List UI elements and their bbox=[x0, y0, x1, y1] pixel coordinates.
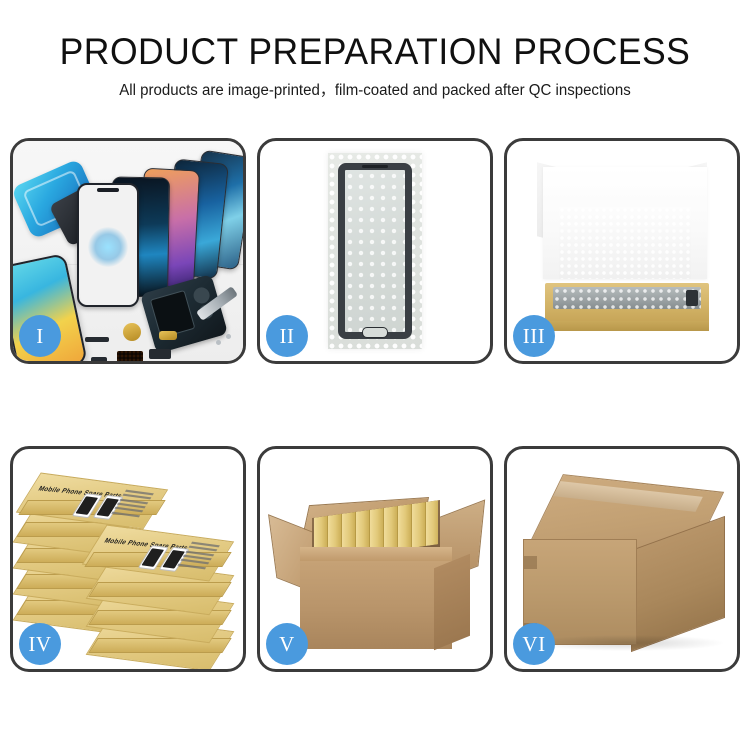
phone-fan-group bbox=[63, 153, 243, 293]
sim-tray-grid-part bbox=[117, 351, 143, 361]
step-badge-2: II bbox=[266, 315, 308, 357]
step-badge-6: VI bbox=[513, 623, 555, 665]
sealed-carton-group bbox=[523, 483, 725, 645]
page-subtitle: All products are image-printed，film-coat… bbox=[11, 80, 739, 102]
page-header: PRODUCT PREPARATION PROCESS All products… bbox=[0, 0, 750, 102]
step-badge-1: I bbox=[19, 315, 61, 357]
flex-cable-part bbox=[85, 337, 109, 342]
foam-padding bbox=[559, 207, 691, 279]
page-title: PRODUCT PREPARATION PROCESS bbox=[15, 30, 735, 74]
speaker-part bbox=[123, 323, 141, 341]
printed-box-front: Mobile Phone Spare Parts bbox=[89, 533, 225, 567]
home-button-cutout bbox=[362, 327, 388, 338]
process-step-grid: I II III bbox=[10, 138, 740, 672]
step-badge-5: V bbox=[266, 623, 308, 665]
carton-shadow bbox=[533, 635, 723, 651]
box-front bbox=[88, 582, 231, 597]
bubble-wrap-sheet bbox=[328, 153, 422, 349]
screen-glow bbox=[88, 227, 128, 267]
process-step-panel-2: II bbox=[257, 138, 493, 364]
carton-seam-top bbox=[524, 556, 537, 569]
process-step-panel-5: V bbox=[257, 446, 493, 672]
connector-part bbox=[159, 331, 177, 340]
earpiece-slot bbox=[362, 165, 388, 168]
button-part bbox=[91, 357, 107, 361]
process-step-panel-3: III bbox=[504, 138, 740, 364]
open-carton-group bbox=[274, 479, 478, 649]
screw-2 bbox=[226, 334, 231, 339]
process-step-panel-6: VI bbox=[504, 446, 740, 672]
carton-side bbox=[434, 554, 470, 651]
screw-1 bbox=[216, 340, 221, 345]
process-step-panel-4: Mobile Phone Spare Parts Mobile Phone Sp… bbox=[10, 446, 246, 672]
step-badge-4: IV bbox=[19, 623, 61, 665]
carton-rim bbox=[300, 547, 452, 561]
step-badge-3: III bbox=[513, 315, 555, 357]
phone-1-screen bbox=[77, 183, 139, 307]
screen-digitizer bbox=[338, 163, 412, 339]
packed-screen-part bbox=[553, 287, 701, 309]
process-step-panel-1: I bbox=[10, 138, 246, 364]
notch bbox=[97, 188, 119, 192]
carton-front bbox=[300, 561, 452, 649]
camera-module-part bbox=[149, 349, 171, 359]
printed-box-back: Mobile Phone Spare Parts bbox=[23, 481, 159, 515]
kraft-box-front bbox=[545, 321, 709, 331]
